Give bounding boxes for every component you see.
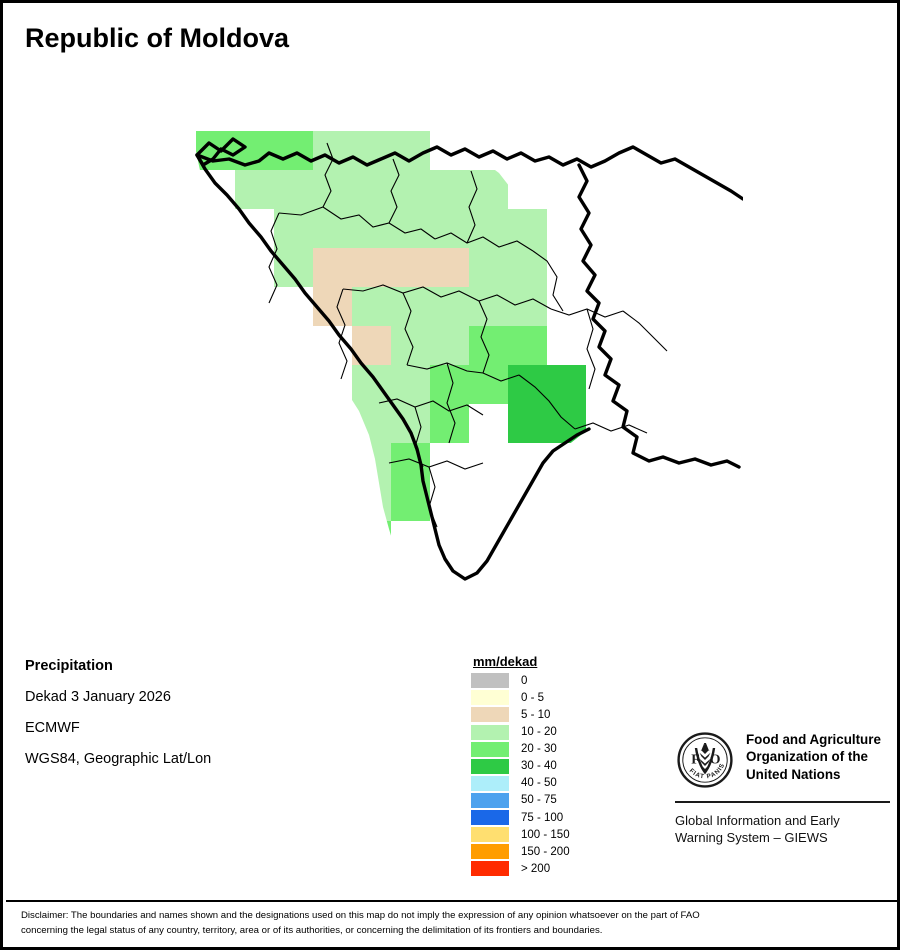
legend-label: 100 - 150 [521, 829, 570, 841]
raster-cell [391, 248, 430, 287]
raster-cell [352, 365, 391, 404]
info-projection: WGS84, Geographic Lat/Lon [25, 751, 355, 767]
legend-item: 10 - 20 [471, 724, 601, 740]
legend-swatch [471, 827, 509, 842]
raster-cell [352, 482, 391, 521]
legend-item: 0 - 5 [471, 690, 601, 706]
raster-cell [313, 287, 352, 326]
legend-swatch [471, 810, 509, 825]
raster-cell [313, 248, 352, 287]
raster-cell [469, 170, 508, 209]
legend-label: 75 - 100 [521, 812, 563, 824]
svg-text:A: A [701, 739, 710, 753]
raster-cell [274, 131, 313, 170]
legend-title: mm/dekad [471, 654, 601, 669]
map-info-block: Precipitation Dekad 3 January 2026 ECMWF… [25, 658, 355, 782]
legend-swatch [471, 861, 509, 876]
legend-label: > 200 [521, 863, 550, 875]
precipitation-map[interactable] [183, 103, 743, 603]
legend-label: 50 - 75 [521, 794, 557, 806]
legend-item: 50 - 75 [471, 793, 601, 809]
fao-divider [675, 801, 890, 803]
legend-item: > 200 [471, 861, 601, 877]
legend-item: 150 - 200 [471, 844, 601, 860]
raster-cell [469, 287, 508, 326]
raster-cell [469, 248, 508, 287]
raster-cell [313, 131, 352, 170]
disclaimer: Disclaimer: The boundaries and names sho… [21, 909, 883, 939]
raster-cell [352, 287, 391, 326]
raster-cell [352, 248, 391, 287]
legend-swatch [471, 742, 509, 757]
raster-cell [313, 209, 352, 248]
map-raster-svg [183, 103, 743, 603]
raster-cell [547, 365, 586, 404]
raster-cell [430, 170, 469, 209]
legend-swatch [471, 776, 509, 791]
legend-label: 20 - 30 [521, 743, 557, 755]
raster-cell [430, 326, 469, 365]
legend: mm/dekad 00 - 55 - 1010 - 2020 - 3030 - … [471, 654, 601, 878]
raster-cell [391, 326, 430, 365]
raster-cell [508, 326, 547, 365]
legend-item: 20 - 30 [471, 741, 601, 757]
disclaimer-divider [6, 900, 900, 902]
raster-cell [391, 443, 430, 482]
giews-line-2: Warning System – GIEWS [675, 829, 890, 846]
fao-branding-block: F A O FIAT PANIS Food and Agriculture Or… [675, 730, 890, 846]
raster-cell [352, 404, 391, 443]
legend-label: 5 - 10 [521, 709, 550, 721]
raster-cell [352, 521, 391, 560]
legend-item: 40 - 50 [471, 776, 601, 792]
legend-swatch [471, 725, 509, 740]
raster-cell [391, 365, 430, 404]
page-title: Republic of Moldova [25, 23, 289, 54]
raster-cell [508, 404, 547, 443]
raster-cell [508, 365, 547, 404]
raster-cells-layer [196, 131, 586, 560]
info-period: Dekad 3 January 2026 [25, 689, 355, 705]
raster-cell [430, 248, 469, 287]
legend-rows: 00 - 55 - 1010 - 2020 - 3030 - 4040 - 50… [471, 673, 601, 877]
giews-programme-name: Global Information and Early Warning Sys… [675, 812, 890, 846]
legend-label: 0 [521, 675, 527, 687]
fao-org-line-3: United Nations [746, 766, 881, 783]
legend-swatch [471, 673, 509, 688]
raster-cell [313, 170, 352, 209]
disclaimer-line-2: concerning the legal status of any count… [21, 924, 883, 939]
raster-cell [547, 404, 586, 443]
raster-cell [469, 209, 508, 248]
fao-logo-icon: F A O FIAT PANIS [675, 730, 735, 790]
legend-swatch [471, 759, 509, 774]
legend-swatch [471, 793, 509, 808]
raster-cell [391, 170, 430, 209]
svg-text:F: F [691, 752, 699, 767]
giews-line-1: Global Information and Early [675, 812, 890, 829]
legend-item: 100 - 150 [471, 827, 601, 843]
legend-swatch [471, 707, 509, 722]
legend-label: 150 - 200 [521, 846, 570, 858]
legend-swatch [471, 690, 509, 705]
map-poster-frame: Republic of Moldova [0, 0, 900, 950]
raster-cell [391, 131, 430, 170]
legend-label: 30 - 40 [521, 760, 557, 772]
fao-organization-name: Food and Agriculture Organization of the… [746, 730, 881, 783]
info-variable: Precipitation [25, 658, 355, 674]
legend-item: 75 - 100 [471, 810, 601, 826]
raster-cell [274, 248, 313, 287]
legend-item: 5 - 10 [471, 707, 601, 723]
fao-org-line-1: Food and Agriculture [746, 731, 881, 748]
raster-cell [274, 170, 313, 209]
raster-cell [235, 170, 274, 209]
legend-item: 0 [471, 673, 601, 689]
fao-org-line-2: Organization of the [746, 748, 881, 765]
raster-cell [508, 248, 547, 287]
raster-cell [352, 170, 391, 209]
raster-cell [508, 287, 547, 326]
legend-label: 40 - 50 [521, 777, 557, 789]
raster-cell [430, 209, 469, 248]
legend-swatch [471, 844, 509, 859]
raster-cell [391, 287, 430, 326]
raster-cell [469, 365, 508, 404]
raster-cell [352, 443, 391, 482]
legend-label: 0 - 5 [521, 692, 544, 704]
info-source: ECMWF [25, 720, 355, 736]
legend-item: 30 - 40 [471, 758, 601, 774]
legend-label: 10 - 20 [521, 726, 557, 738]
disclaimer-line-1: Disclaimer: The boundaries and names sho… [21, 909, 883, 924]
raster-cell [469, 326, 508, 365]
